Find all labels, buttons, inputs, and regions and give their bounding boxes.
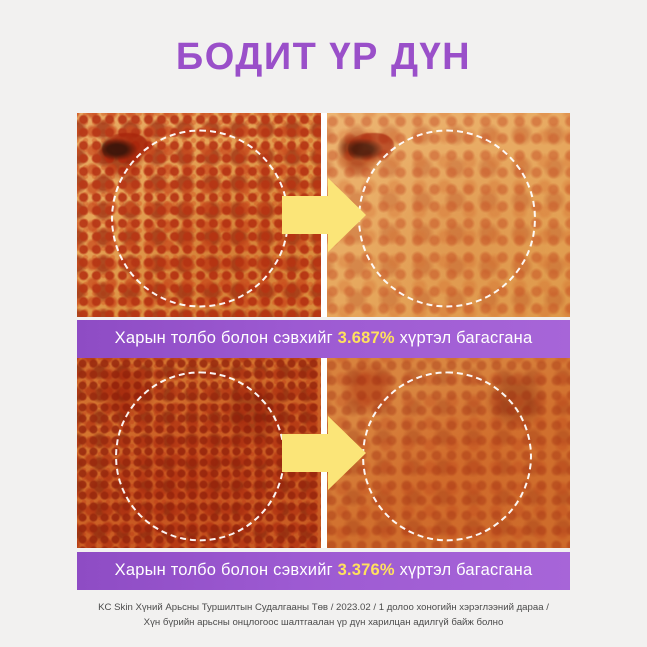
footnote-line-1: KC Skin Хүний Арьсны Туршилтын Судалгаан… [0, 600, 647, 615]
footnote: KC Skin Хүний Арьсны Туршилтын Судалгаан… [0, 600, 647, 631]
caption-suffix: хүртэл багасгана [395, 329, 533, 347]
caption-percent: 3.687% [338, 329, 395, 347]
photo-pair-1 [77, 113, 570, 317]
focus-area-circle [111, 130, 289, 308]
right-arrow-icon [282, 416, 366, 490]
caption-prefix: Харын толбо болон сэвхийг [115, 561, 338, 579]
caption-bar-2: Харын толбо болон сэвхийг 3.376% хүртэл … [77, 552, 570, 590]
comparison-block-1: Харын толбо болон сэвхийг 3.687% хүртэл … [77, 113, 570, 358]
right-arrow-icon [282, 178, 366, 252]
comparison-block-2: Харын толбо болон сэвхийг 3.376% хүртэл … [77, 358, 570, 590]
caption-bar-1: Харын толбо болон сэвхийг 3.687% хүртэл … [77, 320, 570, 358]
focus-area-circle [362, 371, 532, 541]
focus-area-circle [358, 130, 536, 308]
page-title: БОДИТ ҮР ДҮН [0, 38, 647, 76]
caption-prefix: Харын толбо болон сэвхийг [115, 329, 338, 347]
caption-percent: 3.376% [338, 561, 395, 579]
caption-suffix: хүртэл багасгана [395, 561, 533, 579]
footnote-line-2: Хүн бүрийн арьсны онцлогоос шалтгаалан ү… [0, 615, 647, 630]
photo-pair-2 [77, 358, 570, 548]
focus-area-circle [115, 371, 285, 541]
